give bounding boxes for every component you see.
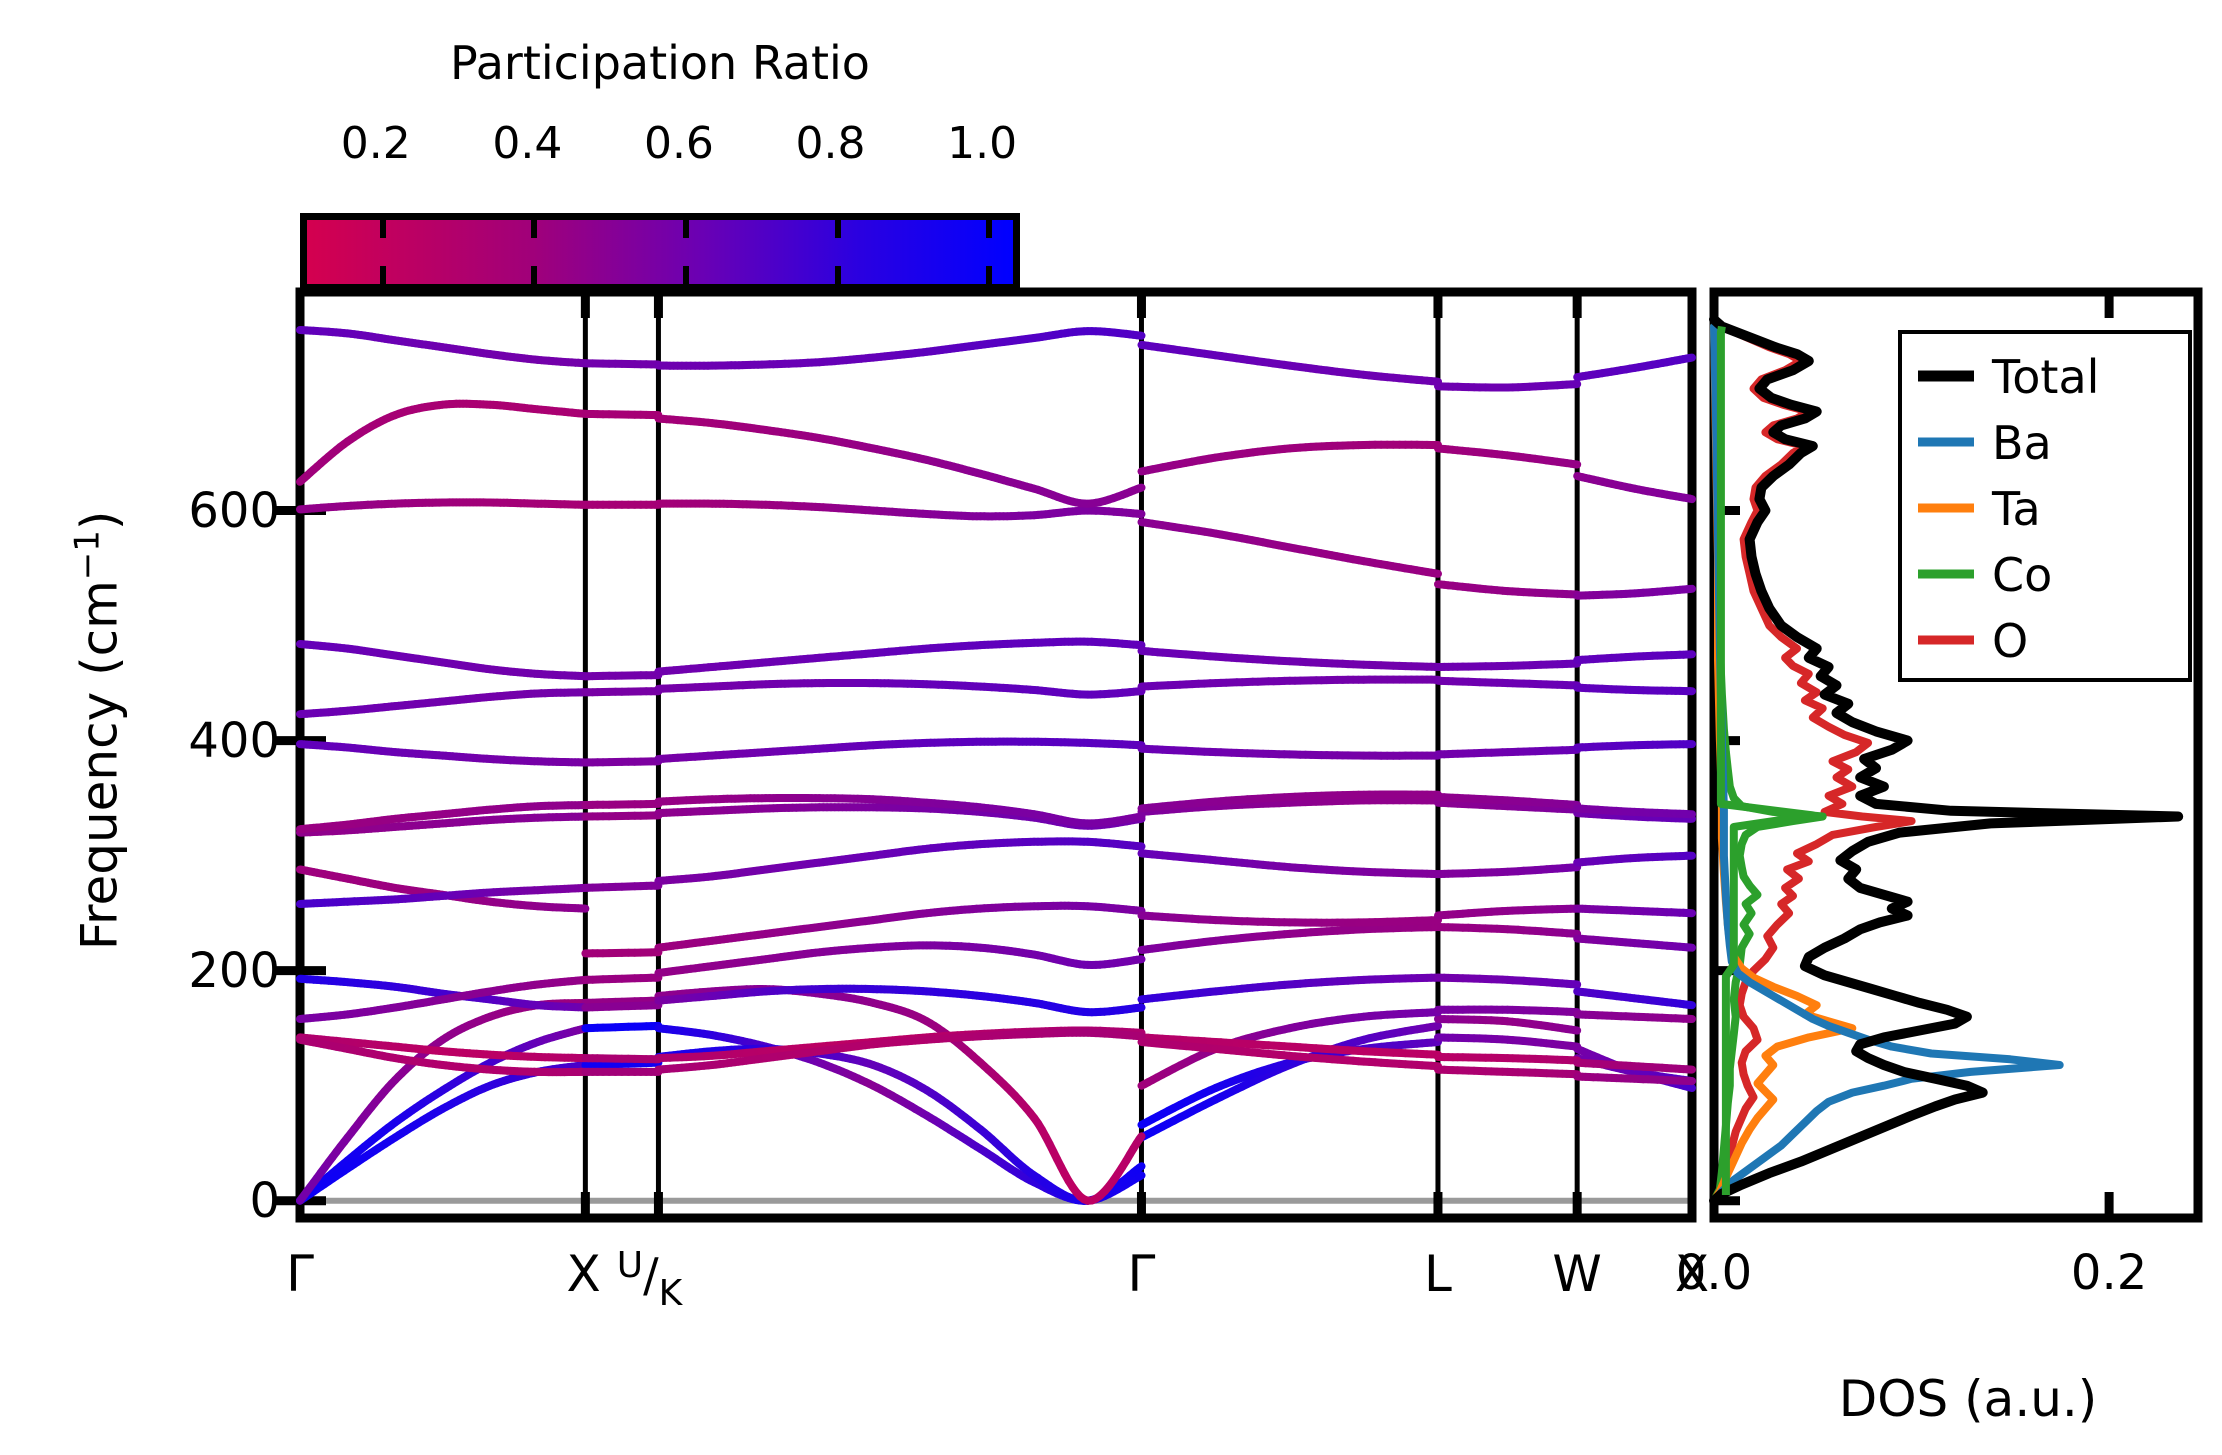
band-2-seg-2 (1139, 1166, 1141, 1168)
phonon-plot-svg: TotalBaTaCoO (0, 0, 2222, 1455)
band-3-seg-2 (1139, 1136, 1141, 1139)
band-1-seg-3 (1435, 1026, 1438, 1027)
band-1-seg-5 (1690, 1087, 1692, 1088)
band-curves (300, 330, 1692, 1201)
band-1-seg-2 (1139, 1175, 1141, 1176)
